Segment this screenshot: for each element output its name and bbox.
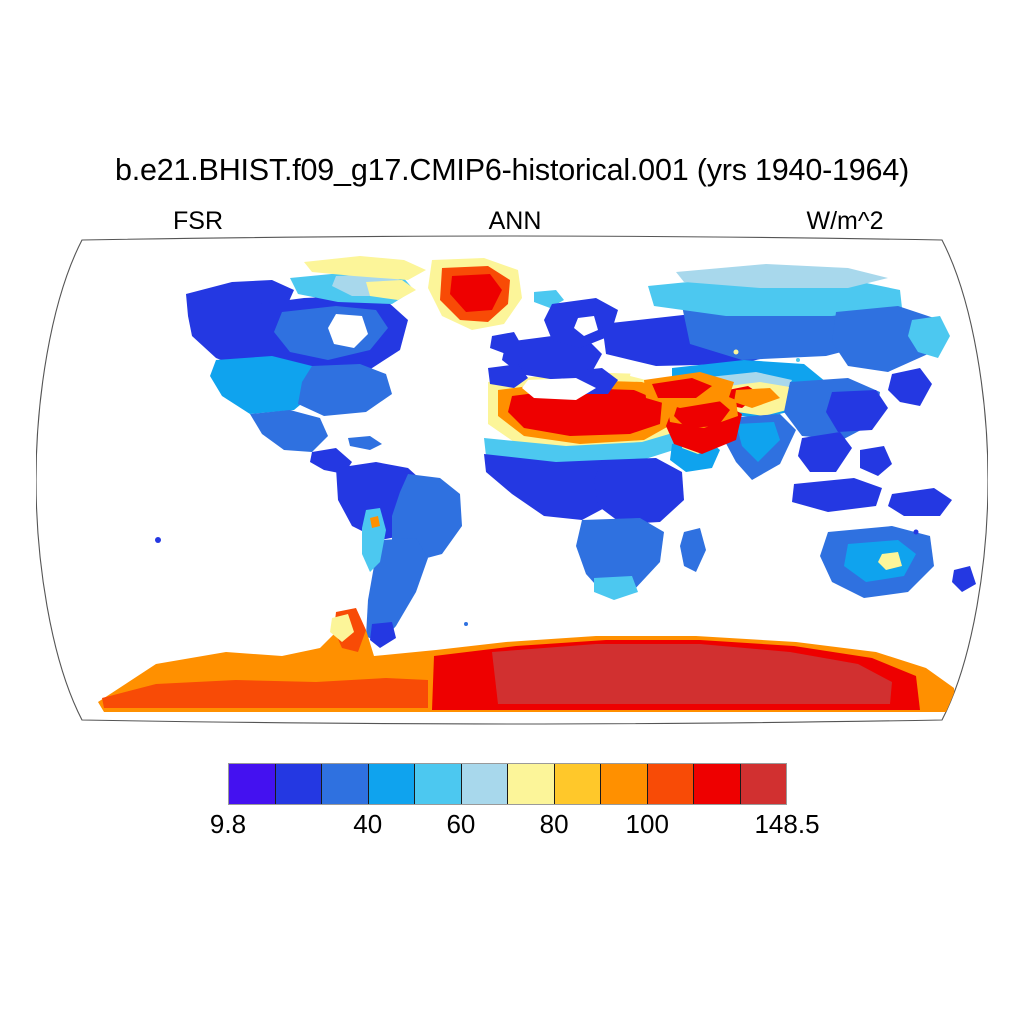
- colorbar-segment-1: [276, 764, 323, 804]
- colorbar-segment-3: [369, 764, 416, 804]
- colorbar-segment-7: [555, 764, 602, 804]
- colorbar-segment-0: [229, 764, 276, 804]
- colorbar-segment-10: [694, 764, 741, 804]
- colorbar-tick-label: 60: [446, 808, 475, 840]
- island-speck: [914, 530, 919, 535]
- colorbar-segment-9: [648, 764, 695, 804]
- colorbar-tick-label: 148.5: [754, 808, 819, 840]
- world-map: [36, 232, 988, 728]
- island-speck: [796, 358, 800, 362]
- colorbar-tick-label: 40: [353, 808, 382, 840]
- colorbar-segment-2: [322, 764, 369, 804]
- colorbar-tick-label: 100: [626, 808, 669, 840]
- colorbar-tick-label: 9.8: [210, 808, 246, 840]
- island-speck: [155, 537, 161, 543]
- colorbar-segment-4: [415, 764, 462, 804]
- colorbar-tick-label: 80: [540, 808, 569, 840]
- colorbar-segment-6: [508, 764, 555, 804]
- island-speck: [734, 350, 739, 355]
- island-speck: [464, 622, 468, 626]
- colorbar-segment-5: [462, 764, 509, 804]
- climate-map-figure: b.e21.BHIST.f09_g17.CMIP6-historical.001…: [0, 0, 1024, 1024]
- map-panel: [36, 232, 988, 728]
- colorbar-labels: 9.8406080100148.5: [0, 808, 1024, 844]
- colorbar-segment-8: [601, 764, 648, 804]
- colorbar-segment-11: [741, 764, 787, 804]
- colorbar: [228, 763, 787, 805]
- page-title: b.e21.BHIST.f09_g17.CMIP6-historical.001…: [0, 152, 1024, 188]
